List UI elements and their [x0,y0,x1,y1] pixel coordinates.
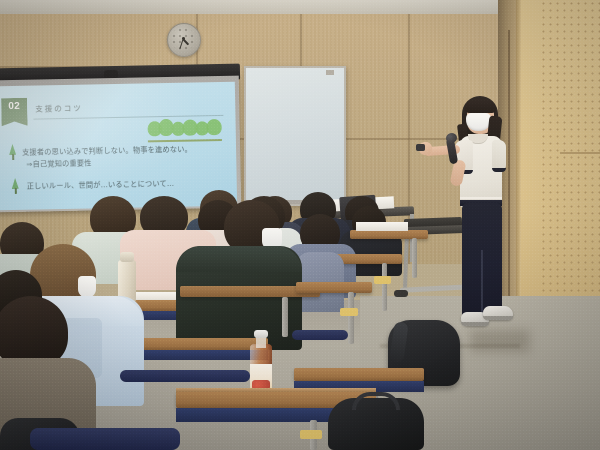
bottle-cap [254,330,268,338]
tree-icon [11,178,20,194]
chair [30,428,180,450]
whiteboard [244,66,346,206]
slide-bullet-2: 正しいルール、世間が…いることについて… [27,179,175,192]
whiteboard-clip [326,70,334,75]
papers [356,222,408,231]
slide-bullet-1-sub: ⇒自己覚知の重要性 [26,158,92,169]
presentation-remote [416,144,425,151]
illustration-ground-line [148,139,222,142]
desk-foot [374,276,391,284]
tree-icon [8,144,17,160]
clock-center-pin [182,37,185,40]
slide: 02 支援のコツ 支援者の思い込みで判断しない。物事を進めない。 ⇒自己覚知の重… [0,82,237,211]
acoustic-panel-seam [560,152,600,154]
sneaker-sole [483,316,513,320]
sneaker-sole [461,322,489,326]
slide-title: 支援のコツ [35,103,83,115]
desk [294,368,424,381]
shirt-hem-light [460,197,502,199]
desk-foot [340,308,358,316]
desk-leg [412,238,417,278]
forest-illustration [147,118,221,141]
desk-leg [348,292,354,344]
face-mask [78,276,96,298]
attendee-shoulders [176,246,302,272]
presenter-bangs [465,99,496,113]
chair [292,330,348,340]
photo-scene: 1:45 02 支援のコツ 支援者の思 [0,0,600,450]
bag-handle [352,392,400,410]
desk-leg [282,297,288,337]
desk-leg [382,263,387,311]
projection-screen: 02 支援のコツ 支援者の思い込みで判断しない。物事を進めない。 ⇒自己覚知の重… [0,82,237,211]
desk [296,282,372,293]
sleeve-trim [492,168,506,172]
slide-bullet-1: 支援者の思い込みで判断しない。物事を進めない。 [22,145,192,158]
thermos-cap [120,252,134,262]
desk-foot [300,430,322,439]
slide-number: 02 [1,101,27,112]
table-foot [394,290,408,297]
chair [120,370,250,382]
